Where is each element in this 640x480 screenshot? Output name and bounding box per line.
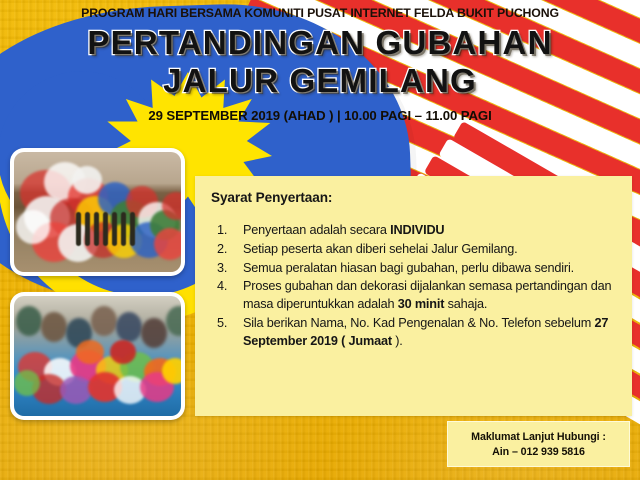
photo-image-1 bbox=[14, 152, 181, 272]
requirements-panel: Syarat Penyertaan: Penyertaan adalah sec… bbox=[195, 176, 632, 416]
photo-frame-inner bbox=[14, 152, 181, 272]
photo-detail bbox=[130, 212, 135, 246]
title-line-2: JALUR GEMILANG bbox=[0, 64, 640, 97]
photo-detail bbox=[41, 312, 67, 342]
photo-detail bbox=[121, 212, 126, 246]
photo-detail bbox=[16, 210, 50, 244]
photo-detail bbox=[166, 306, 181, 336]
photo-detail bbox=[85, 212, 90, 246]
contact-label: Maklumat Lanjut Hubungi : bbox=[471, 431, 606, 443]
requirements-list: Penyertaan adalah secara INDIVIDUSetiap … bbox=[211, 222, 616, 350]
photo-detail bbox=[103, 212, 108, 246]
photo-detail bbox=[141, 318, 167, 348]
photo-detail bbox=[116, 312, 142, 342]
requirement-item: Sila berikan Nama, No. Kad Pengenalan & … bbox=[211, 315, 616, 351]
title-line-1: PERTANDINGAN GUBAHAN bbox=[87, 24, 552, 61]
panel-heading: Syarat Penyertaan: bbox=[211, 190, 616, 205]
contact-info-box: Maklumat Lanjut Hubungi : Ain – 012 939 … bbox=[447, 421, 630, 467]
program-header: PROGRAM HARI BERSAMA KOMUNITI PUSAT INTE… bbox=[0, 6, 640, 20]
poster-title: PERTANDINGAN GUBAHAN JALUR GEMILANG bbox=[0, 26, 640, 97]
requirement-item: Semua peralatan hiasan bagi gubahan, per… bbox=[211, 260, 616, 278]
photo-detail bbox=[94, 212, 99, 246]
photo-frame-inner bbox=[14, 296, 181, 416]
photo-image-2 bbox=[14, 296, 181, 416]
photo-detail bbox=[154, 228, 181, 260]
photo-detail bbox=[72, 166, 102, 194]
photo-participants-decorating bbox=[10, 292, 185, 420]
poster-canvas: PROGRAM HARI BERSAMA KOMUNITI PUSAT INTE… bbox=[0, 0, 640, 480]
event-date-time: 29 SEPTEMBER 2019 (AHAD ) | 10.00 PAGI –… bbox=[0, 108, 640, 123]
requirement-item: Setiap peserta akan diberi sehelai Jalur… bbox=[211, 241, 616, 259]
photo-detail bbox=[91, 306, 117, 336]
photo-detail bbox=[110, 340, 136, 364]
photo-detail bbox=[112, 212, 117, 246]
photo-detail bbox=[14, 370, 40, 396]
requirement-item: Penyertaan adalah secara INDIVIDU bbox=[211, 222, 616, 240]
photo-detail bbox=[16, 306, 42, 336]
photo-detail bbox=[76, 340, 104, 364]
photo-flag-bouquet-arrangement bbox=[10, 148, 185, 276]
photo-detail bbox=[60, 376, 92, 404]
requirement-item: Proses gubahan dan dekorasi dijalankan s… bbox=[211, 278, 616, 314]
photo-detail bbox=[76, 212, 81, 246]
photo-detail bbox=[162, 358, 181, 384]
contact-number: Ain – 012 939 5816 bbox=[492, 446, 585, 458]
